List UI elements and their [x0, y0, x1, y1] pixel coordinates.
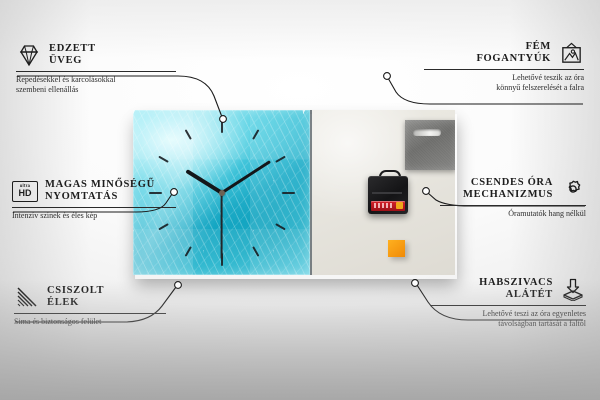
gear-icon	[560, 176, 586, 202]
feature-rule	[14, 313, 166, 314]
feature-description: Lehetővé teszi az óra egyenletes távolsá…	[430, 309, 586, 328]
feature-title: MAGAS MINŐSÉGŰ NYOMTATÁS	[45, 179, 155, 204]
mechanism-body	[368, 176, 408, 214]
ultra-hd-hd-label: HD	[19, 189, 32, 198]
feature-title: CSISZOLT ÉLEK	[47, 285, 104, 310]
feature-rule	[440, 205, 586, 206]
feature-silent-movement: CSENDES ÓRA MECHANIZMUS Óramutatók hang …	[440, 176, 586, 219]
feature-title: FÉM FOGANTYÚK	[476, 41, 551, 66]
feature-rule	[16, 71, 176, 72]
feature-head: ultra HD MAGAS MINŐSÉGŰ NYOMTATÁS	[12, 178, 176, 204]
feature-rule	[430, 305, 586, 306]
feature-rule	[424, 69, 584, 70]
battery-plus-terminal	[396, 202, 403, 209]
product-image	[133, 110, 455, 275]
ultra-hd-icon: ultra HD	[12, 178, 38, 204]
feature-title: CSENDES ÓRA MECHANIZMUS	[463, 177, 553, 202]
feature-high-quality-print: ultra HD MAGAS MINŐSÉGŰ NYOMTATÁS Intenz…	[12, 178, 176, 221]
feature-title: HABSZIVACS ALÁTÉT	[479, 277, 553, 302]
clock-back-panel	[312, 110, 455, 275]
battery	[371, 201, 405, 211]
feature-description: Lehetővé teszik az óra könnyű felszerelé…	[424, 73, 584, 92]
picture-hanger-icon	[558, 40, 584, 66]
battery-label	[374, 203, 394, 208]
feature-metal-handles: FÉM FOGANTYÚK Lehetővé teszik az óra kön…	[424, 40, 584, 92]
foam-pad-icon	[560, 276, 586, 302]
feature-head: FÉM FOGANTYÚK	[424, 40, 584, 66]
feature-head: HABSZIVACS ALÁTÉT	[430, 276, 586, 302]
feature-head: CSISZOLT ÉLEK	[14, 284, 166, 310]
feature-head: CSENDES ÓRA MECHANIZMUS	[440, 176, 586, 202]
feature-description: Intenzív színek és éles kép	[12, 211, 176, 221]
feature-title: EDZETT ÜVEG	[49, 43, 96, 68]
feature-description: Sima és biztonságos felület	[14, 317, 166, 327]
feature-description: Óramutatók hang nélkül	[440, 209, 586, 219]
hanger-texture	[405, 120, 455, 170]
hanger-slot	[413, 129, 441, 136]
mechanism-slit	[372, 192, 402, 194]
foam-pad	[388, 240, 405, 257]
metal-hanger	[405, 120, 455, 170]
feature-polished-edges: CSISZOLT ÉLEK Sima és biztonságos felüle…	[14, 284, 166, 327]
feature-tempered-glass: EDZETT ÜVEG Repedésekkel és karcolásokka…	[16, 42, 176, 94]
feature-head: EDZETT ÜVEG	[16, 42, 176, 68]
diamond-icon	[16, 42, 42, 68]
feature-description: Repedésekkel és karcolásokkal szembeni e…	[16, 75, 176, 94]
quartz-mechanism	[368, 170, 408, 214]
polished-edge-icon	[14, 284, 40, 310]
feature-foam-backing: HABSZIVACS ALÁTÉT Lehetővé teszi az óra …	[430, 276, 586, 328]
infographic-canvas: EDZETT ÜVEG Repedésekkel és karcolásokka…	[0, 0, 600, 400]
feature-rule	[12, 207, 176, 208]
